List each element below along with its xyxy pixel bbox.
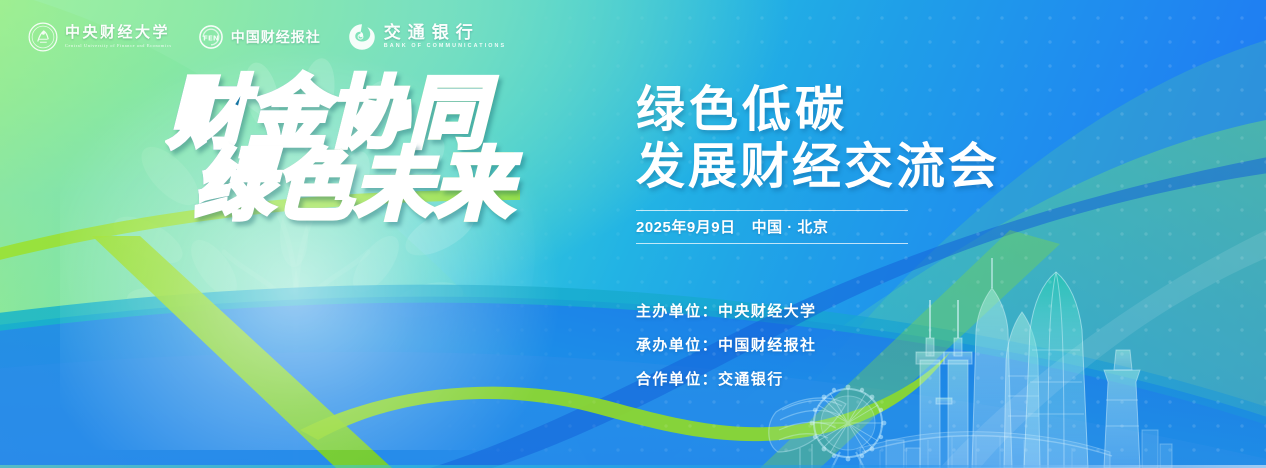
ferris-wheel-icon [810, 385, 887, 468]
organizer-partner: 合作单位：交通银行 [636, 368, 1156, 389]
sponsor-logo-bar: 中央财经大学 Central University of Finance and… [28, 22, 506, 52]
organizer-list: 主办单位：中央财经大学 承办单位：中国财经报社 合作单位：交通银行 [636, 300, 1156, 389]
logo-bocom-cn: 交通银行 [384, 24, 506, 41]
event-date-row: 2025年9月9日 中国 · 北京 [636, 210, 908, 244]
logo-cfen: FEN 中国财经报社 [198, 24, 321, 50]
event-info-block: 绿色低碳 发展财经交流会 2025年9月9日 中国 · 北京 主办单位：中央财经… [636, 82, 1156, 389]
headline-line-2: 绿色未来 [194, 148, 514, 224]
accent-lime-diagonal-1 [92, 236, 392, 468]
waterfront-deck [860, 432, 1112, 468]
artistic-headline: 财金协同 绿色未来 [168, 76, 514, 225]
event-date: 2025年9月9日 [636, 216, 736, 237]
organizer-host: 主办单位：中央财经大学 [636, 300, 1156, 321]
foreground-buildings [886, 430, 1172, 468]
conference-banner: 中央财经大学 Central University of Finance and… [0, 0, 1266, 468]
logo-bocom-en: BANK OF COMMUNICATIONS [384, 44, 506, 49]
bocom-coin-icon [347, 22, 377, 52]
logo-cufe: 中央财经大学 Central University of Finance and… [28, 22, 172, 52]
cfen-circle-icon: FEN [198, 24, 224, 50]
main-title-line-2: 发展财经交流会 [636, 139, 1156, 196]
organizer-coordinator: 承办单位：中国财经报社 [636, 334, 1156, 355]
main-title-line-1: 绿色低碳 [636, 82, 1156, 139]
fan-pavilion [769, 398, 846, 468]
logo-cufe-cn: 中央财经大学 [65, 26, 172, 41]
logo-cufe-en: Central University of Finance and Econom… [65, 44, 172, 48]
logo-bocom: 交通银行 BANK OF COMMUNICATIONS [347, 22, 506, 52]
logo-cfen-cn: 中国财经报社 [231, 30, 321, 44]
svg-text:FEN: FEN [203, 33, 219, 42]
cufe-seal-icon [28, 22, 58, 52]
event-location: 中国 · 北京 [752, 216, 829, 237]
